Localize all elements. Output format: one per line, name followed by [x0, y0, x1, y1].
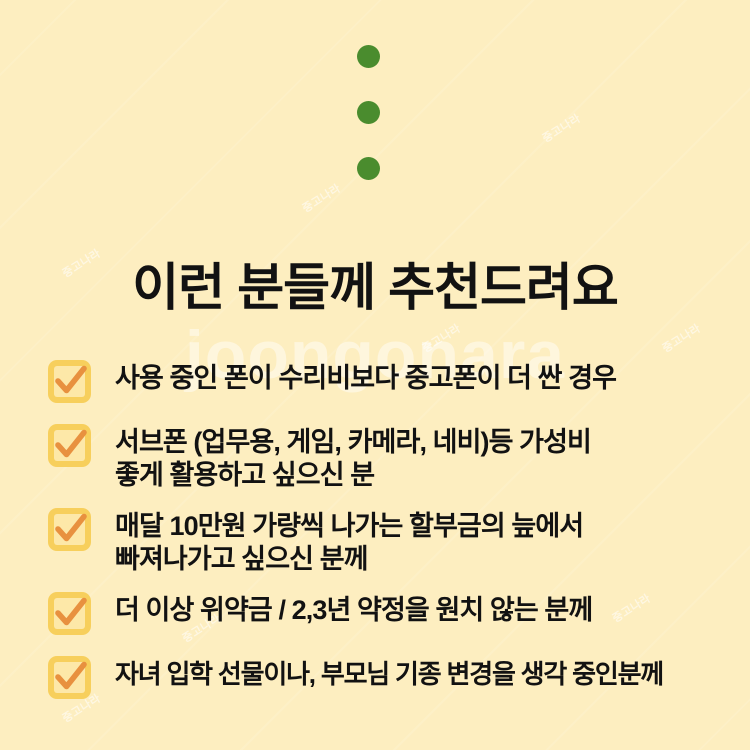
- list-item-line-1: 매달 10만원 가량씩 나가는 할부금의 늪에서: [115, 511, 583, 541]
- green-dot-icon: [357, 157, 380, 180]
- list-item-line-2: 좋게 활용하고 싶으신 분: [115, 459, 591, 492]
- list-item-line-1: 서브폰 (업무용, 게임, 카메라, 네비)등 가성비: [115, 427, 591, 457]
- promo-poster: 중고나라 중고나라 중고나라 중고나라 중고나라 중고나라 중고나라 중고나라 …: [0, 0, 750, 750]
- checked-checkbox-icon: [47, 507, 92, 552]
- green-dot-icon: [357, 45, 380, 68]
- watermark-word: 중고나라: [539, 110, 584, 146]
- watermark-word: 중고나라: [299, 180, 344, 216]
- list-item: 자녀 입학 선물이나, 부모님 기종 변경을 생각 중인분께: [47, 654, 740, 700]
- page-title: 이런 분들께 추천드려요: [0, 246, 750, 320]
- list-item-text: 서브폰 (업무용, 게임, 카메라, 네비)등 가성비 좋게 활용하고 싶으신 …: [115, 422, 591, 492]
- decorative-dots-group: [357, 45, 380, 180]
- list-item-text: 더 이상 위약금 / 2,3년 약정을 원치 않는 분께: [115, 590, 592, 627]
- watermark-word: 중고나라: [419, 320, 464, 356]
- benefits-checklist: 사용 중인 폰이 수리비보다 중고폰이 더 싼 경우 서브폰 (업무용, 게임,…: [47, 358, 740, 718]
- list-item-text: 매달 10만원 가량씩 나가는 할부금의 늪에서 빠져나가고 싶으신 분께: [115, 506, 583, 576]
- checked-checkbox-icon: [47, 359, 92, 404]
- list-item: 사용 중인 폰이 수리비보다 중고폰이 더 싼 경우: [47, 358, 740, 404]
- checked-checkbox-icon: [47, 591, 92, 636]
- list-item-line-1: 더 이상 위약금 / 2,3년 약정을 원치 않는 분께: [115, 595, 592, 625]
- list-item: 매달 10만원 가량씩 나가는 할부금의 늪에서 빠져나가고 싶으신 분께: [47, 506, 740, 576]
- list-item-text: 사용 중인 폰이 수리비보다 중고폰이 더 싼 경우: [115, 358, 616, 395]
- list-item-line-1: 사용 중인 폰이 수리비보다 중고폰이 더 싼 경우: [115, 363, 616, 393]
- checked-checkbox-icon: [47, 655, 92, 700]
- list-item: 더 이상 위약금 / 2,3년 약정을 원치 않는 분께: [47, 590, 740, 636]
- list-item-text: 자녀 입학 선물이나, 부모님 기종 변경을 생각 중인분께: [115, 654, 663, 691]
- green-dot-icon: [357, 101, 380, 124]
- watermark-word: 중고나라: [659, 320, 704, 356]
- list-item: 서브폰 (업무용, 게임, 카메라, 네비)등 가성비 좋게 활용하고 싶으신 …: [47, 422, 740, 492]
- list-item-line-2: 빠져나가고 싶으신 분께: [115, 543, 583, 576]
- list-item-line-1: 자녀 입학 선물이나, 부모님 기종 변경을 생각 중인분께: [115, 659, 663, 689]
- checked-checkbox-icon: [47, 423, 92, 468]
